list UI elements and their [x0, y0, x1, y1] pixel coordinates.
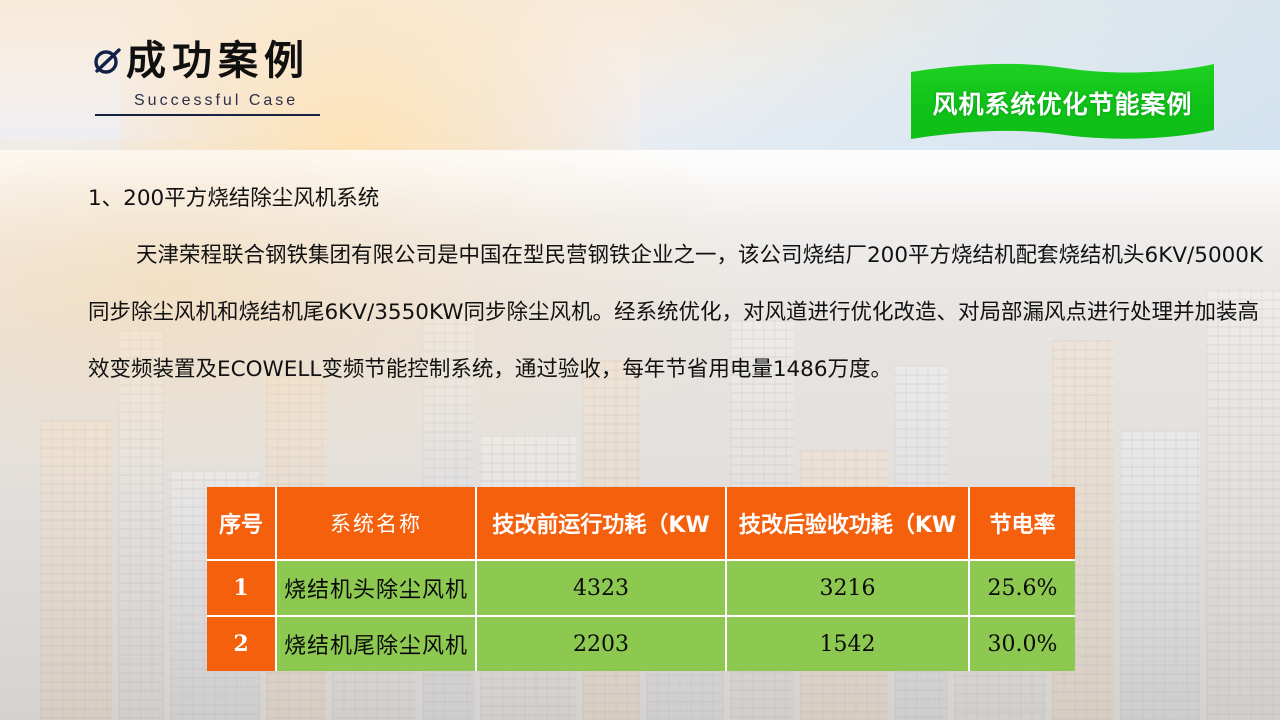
table-row: 1 烧结机头除尘风机 4323 3216 25.6%	[207, 561, 1075, 617]
col-header-power-before: 技改前运行功耗（KW	[477, 487, 727, 561]
table-header-row: 序号 系统名称 技改前运行功耗（KW 技改后验收功耗（KW 节电率	[207, 487, 1075, 561]
ribbon-banner: 风机系统优化节能案例	[905, 60, 1220, 145]
cell-system-name: 烧结机头除尘风机	[277, 561, 477, 617]
body-text: 1、200平方烧结除尘风机系统 天津荣程联合钢铁集团有限公司是中国在型民营钢铁企…	[88, 170, 1280, 398]
slide-canvas: 成功案例 Successful Case 风机系统优化节能案例 1、200平方烧…	[0, 0, 1280, 720]
col-header-index: 序号	[207, 487, 277, 561]
cell-power-after: 1542	[727, 617, 970, 671]
ribbon-label: 风机系统优化节能案例	[905, 60, 1220, 145]
col-header-system-name: 系统名称	[277, 487, 477, 561]
col-header-saving-rate: 节电率	[970, 487, 1075, 561]
page-subtitle: Successful Case	[134, 92, 320, 110]
col-header-power-after: 技改后验收功耗（KW	[727, 487, 970, 561]
page-title-block: 成功案例 Successful Case	[92, 38, 320, 116]
cell-index: 2	[207, 617, 277, 671]
body-paragraph: 天津荣程联合钢铁集团有限公司是中国在型民营钢铁企业之一，该公司烧结厂200平方烧…	[88, 227, 1280, 398]
data-table: 序号 系统名称 技改前运行功耗（KW 技改后验收功耗（KW 节电率 1 烧结机头…	[207, 487, 1075, 671]
cell-saving-rate: 30.0%	[970, 617, 1075, 671]
page-title: 成功案例	[126, 38, 310, 84]
cell-power-before: 4323	[477, 561, 727, 617]
cell-system-name: 烧结机尾除尘风机	[277, 617, 477, 671]
cell-power-before: 2203	[477, 617, 727, 671]
body-heading: 1、200平方烧结除尘风机系统	[88, 170, 1280, 227]
cell-power-after: 3216	[727, 561, 970, 617]
cell-saving-rate: 25.6%	[970, 561, 1075, 617]
title-underline	[95, 114, 320, 116]
slash-circle-icon	[92, 46, 122, 76]
data-table-wrapper: 序号 系统名称 技改前运行功耗（KW 技改后验收功耗（KW 节电率 1 烧结机头…	[207, 487, 1075, 671]
table-row: 2 烧结机尾除尘风机 2203 1542 30.0%	[207, 617, 1075, 671]
cell-index: 1	[207, 561, 277, 617]
